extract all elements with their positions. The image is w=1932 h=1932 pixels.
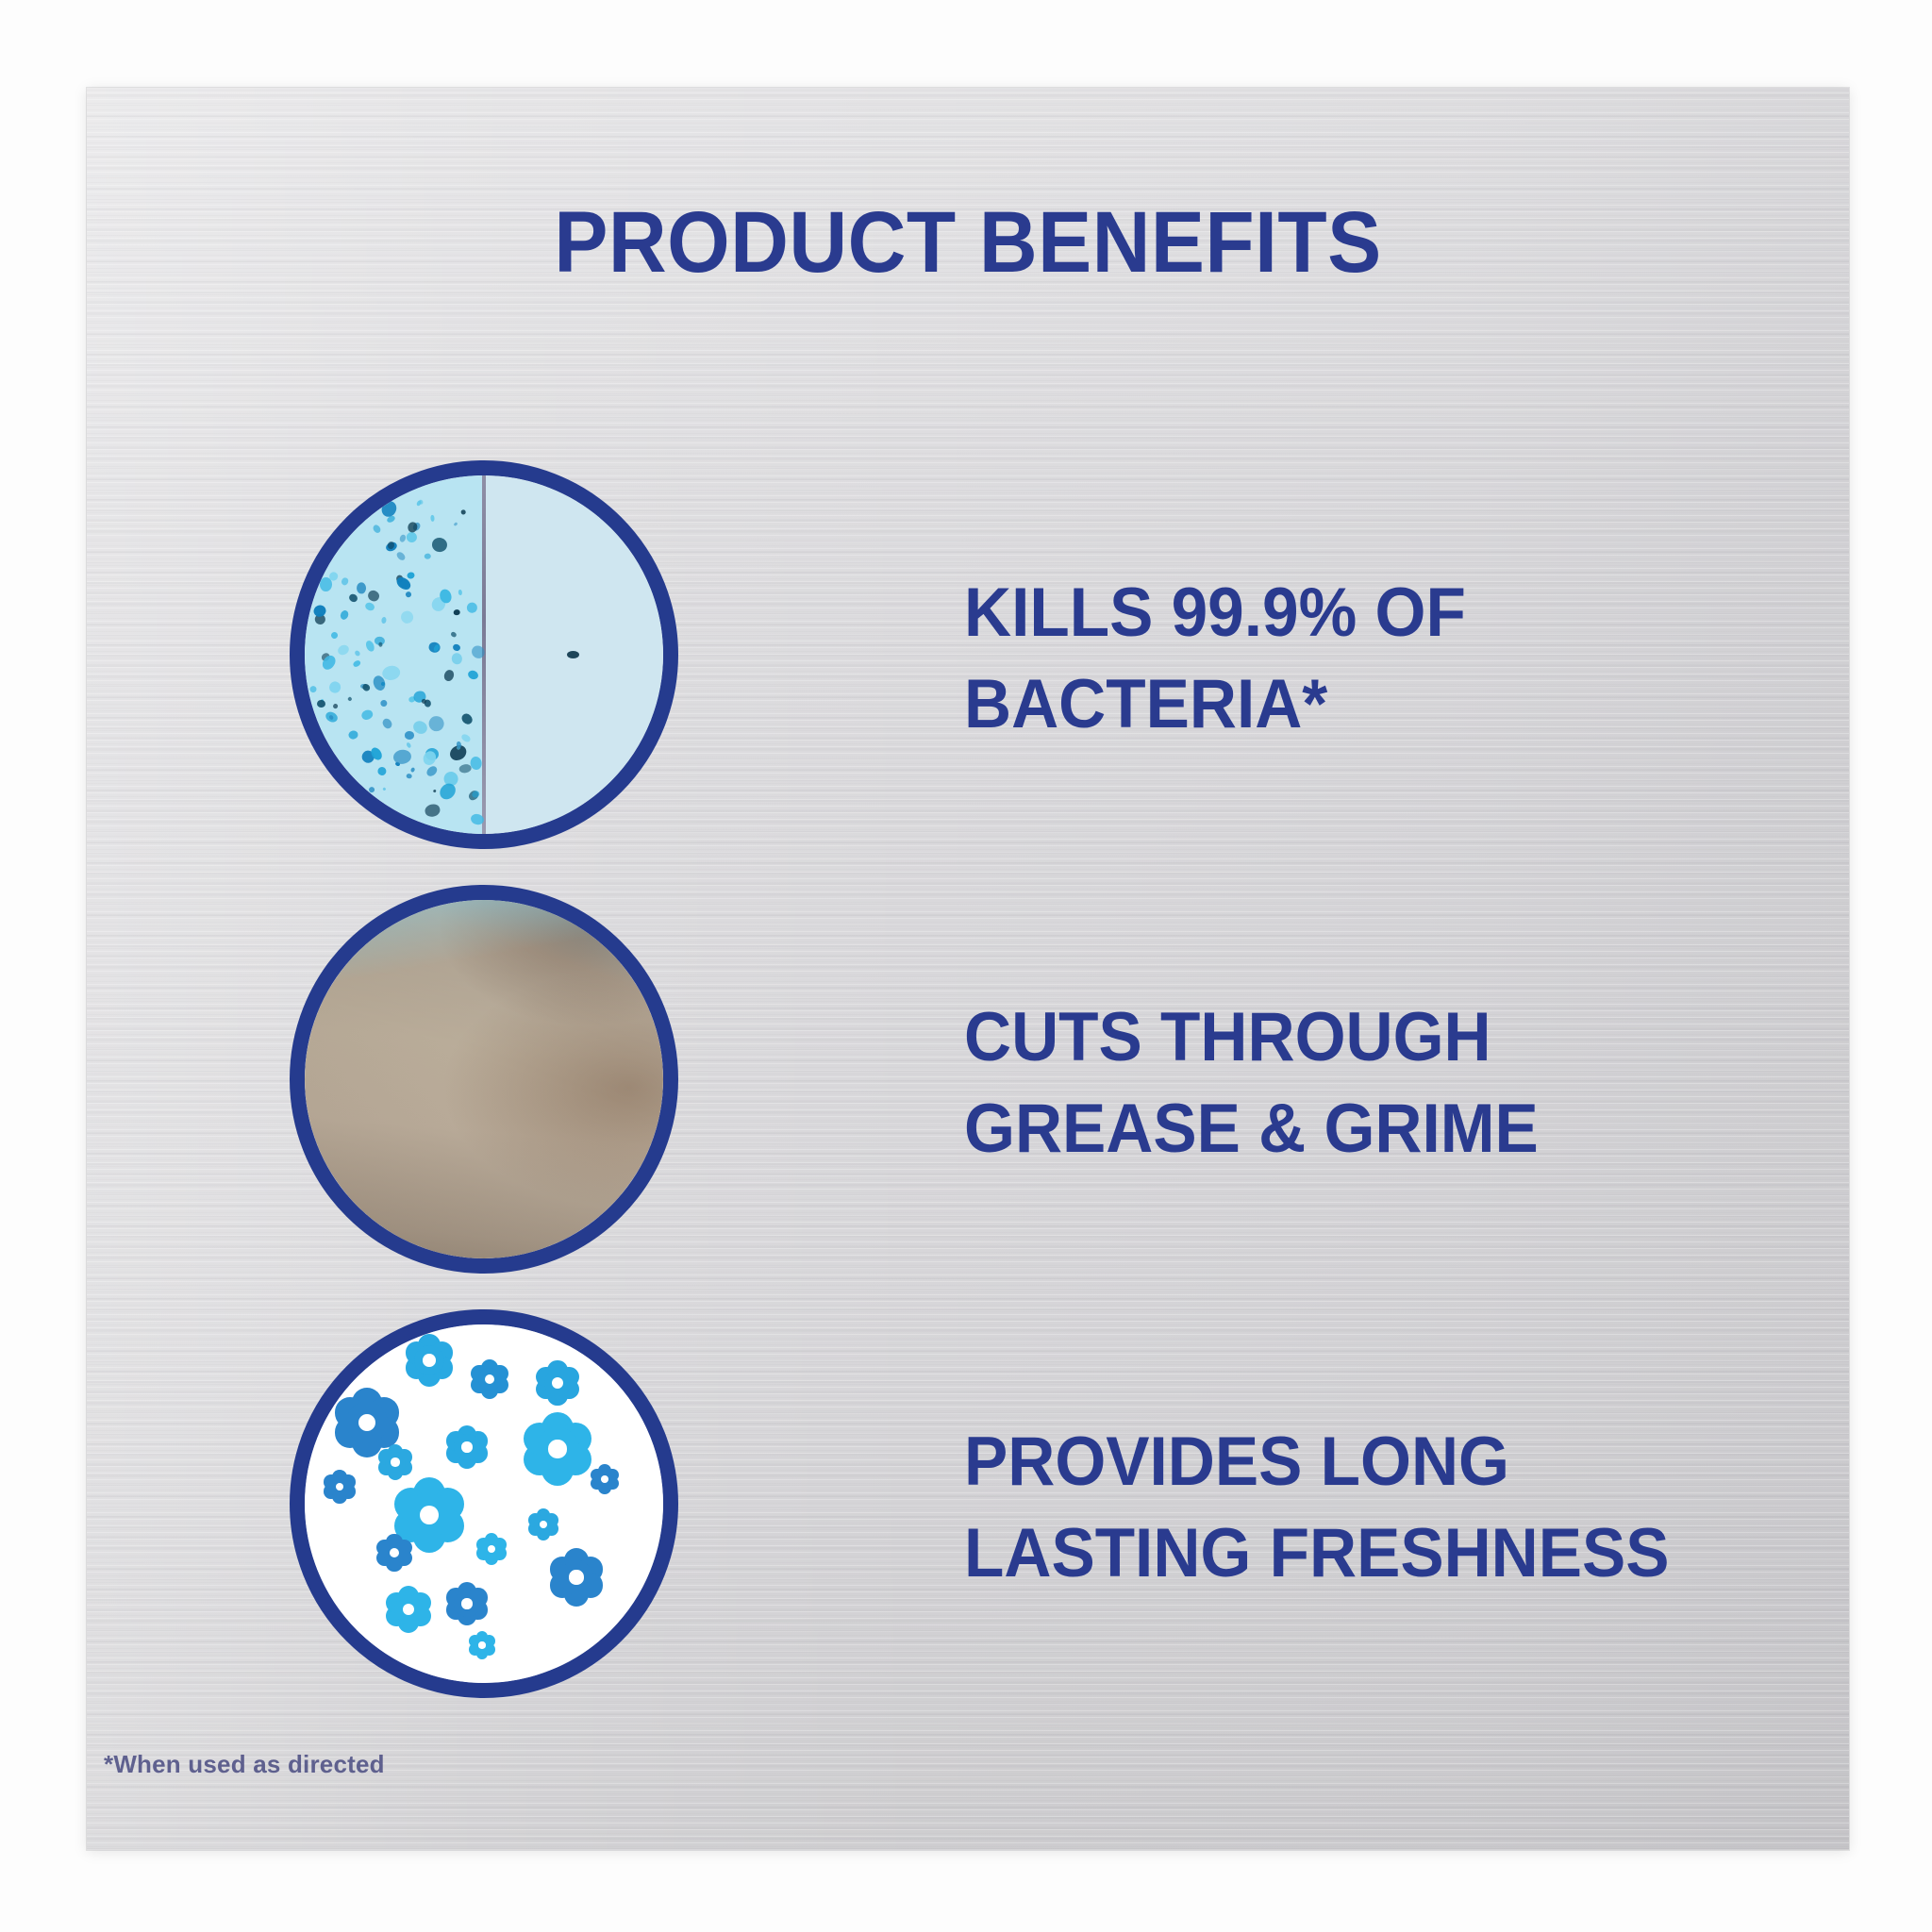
flower-icon <box>523 1414 592 1484</box>
flower-center-hole <box>420 1506 439 1524</box>
benefit-row-bacteria: KILLS 99.9% OF BACTERIA* <box>87 460 1849 857</box>
benefit-line-2a: CUTS THROUGH <box>964 991 1539 1083</box>
flower-center-hole <box>569 1570 583 1584</box>
bacteria-speck <box>405 731 415 740</box>
benefit-icon-wrap-3 <box>290 1309 678 1698</box>
flower-icon <box>324 1471 356 1503</box>
poster-panel: PRODUCT BENEFITS KILLS 99.9% OF BACTERIA… <box>87 88 1849 1850</box>
bacteria-speck-residual <box>567 651 579 658</box>
flower-icon <box>405 1336 454 1385</box>
tile-floor-graphic <box>305 900 663 1258</box>
bacteria-speck <box>357 582 366 594</box>
flower-icon <box>446 1426 488 1468</box>
benefit-text-3: PROVIDES LONG LASTING FRESHNESS <box>964 1416 1707 1599</box>
flower-center-hole <box>423 1354 436 1367</box>
benefit-line-3a: PROVIDES LONG <box>964 1416 1670 1507</box>
flower-center-hole <box>552 1377 563 1389</box>
page-title: PRODUCT BENEFITS <box>148 199 1787 286</box>
flower-icon <box>528 1509 558 1540</box>
benefit-icon-wrap-1 <box>290 460 678 849</box>
bacteria-speck <box>387 541 394 549</box>
bacteria-speck <box>458 590 462 595</box>
footnote-text: *When used as directed <box>104 1750 385 1779</box>
benefit-row-freshness: PROVIDES LONG LASTING FRESHNESS <box>87 1309 1849 1706</box>
flower-center-hole <box>461 1598 472 1608</box>
tile-floor-circle-icon <box>290 885 678 1274</box>
flower-icon <box>376 1535 412 1571</box>
flower-center-hole <box>601 1475 608 1483</box>
flower-icon <box>386 1587 431 1632</box>
flower-icon <box>471 1360 508 1398</box>
bacteria-split-circle-icon <box>290 460 678 849</box>
flower-icon <box>378 1445 412 1479</box>
bacteria-speck <box>317 700 325 708</box>
flower-icon <box>549 1550 604 1605</box>
flower-center-hole <box>390 1548 399 1557</box>
flowers-circle-icon <box>290 1309 678 1698</box>
flower-icon <box>591 1465 619 1493</box>
poster-canvas: PRODUCT BENEFITS KILLS 99.9% OF BACTERIA… <box>0 0 1932 1932</box>
bacteria-speck <box>460 508 466 514</box>
benefit-line-2b: GREASE & GRIME <box>964 1083 1539 1174</box>
flower-center-hole <box>461 1441 472 1452</box>
flower-icon <box>446 1583 488 1624</box>
flower-center-hole <box>478 1641 485 1648</box>
flowers-graphic <box>305 1324 663 1683</box>
benefit-line-3b: LASTING FRESHNESS <box>964 1507 1670 1599</box>
benefit-line-1b: BACTERIA* <box>964 658 1466 750</box>
flower-icon <box>469 1632 495 1658</box>
tile-floor-shading <box>305 900 663 1258</box>
flower-center-hole <box>548 1440 566 1457</box>
flower-icon <box>536 1361 579 1405</box>
benefit-line-1a: KILLS 99.9% OF <box>964 567 1466 658</box>
benefit-text-2: CUTS THROUGH GREASE & GRIME <box>964 991 1569 1174</box>
bacteria-split-graphic <box>305 475 663 834</box>
benefit-text-1: KILLS 99.9% OF BACTERIA* <box>964 567 1492 750</box>
benefit-row-grease: CUTS THROUGH GREASE & GRIME <box>87 885 1849 1281</box>
flower-center-hole <box>391 1457 399 1466</box>
flower-icon <box>476 1534 507 1564</box>
flower-center-hole <box>358 1414 375 1431</box>
benefit-icon-wrap-2 <box>290 885 678 1274</box>
